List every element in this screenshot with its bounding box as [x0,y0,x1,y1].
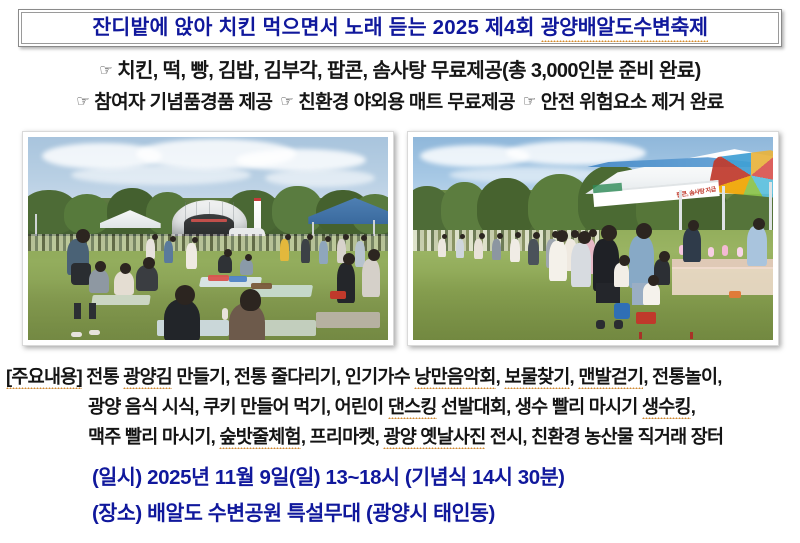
content-text-underlined: 숲밧줄체험 [219,426,300,448]
bullet-safety-text: 안전 위험요소 제거 완료 [541,87,724,118]
poster-page: 잔디밭에 앉아 치킨 먹으면서 노래 듣는 2025 제4회 광양배알도수변축제… [0,0,800,543]
main-content: [주요내용] 전통 광양김 만들기, 전통 줄다리기, 인기가수 낭만음악회, … [0,362,800,452]
photo-row: 팝콘, 솜사탕 지급 [0,131,800,353]
content-text: , 프리마켓, [301,426,384,447]
page-title: 잔디밭에 앉아 치킨 먹으면서 노래 듣는 2025 제4회 광양배알도수변축제 [92,18,707,39]
bullet-line-2: ☞ 참여자 기념품경품 제공 ☞ 친환경 야외용 매트 무료제공 ☞ 안전 위험… [0,87,800,118]
bullet-line-1-text: 치킨, 떡, 빵, 김밥, 김부각, 팝콘, 솜사탕 무료제공(총 3,000인… [117,56,700,87]
title-plain-part: 잔디밭에 앉아 치킨 먹으면서 노래 듣는 2025 제4회 [92,16,540,39]
content-text: , [570,366,579,387]
festival-lawn-photo-image [28,137,388,340]
content-text: 광양 음식 시식, 쿠키 만들어 먹기, 어린이 [88,396,388,417]
bullet-line-1: ☞ 치킨, 떡, 빵, 김밥, 김부각, 팝콘, 솜사탕 무료제공(총 3,00… [0,56,800,87]
bullet-souvenir-text: 참여자 기념품경품 제공 [94,87,272,118]
pointing-hand-icon: ☞ [76,86,89,117]
content-line-1: [주요내용] 전통 광양김 만들기, 전통 줄다리기, 인기가수 낭만음악회, … [0,362,800,392]
title-highlight-part: 광양배알도수변축제 [541,16,708,40]
title-box: 잔디밭에 앉아 치킨 먹으면서 노래 듣는 2025 제4회 광양배알도수변축제 [18,9,782,47]
content-text-underlined: 맨발걷기 [578,366,643,388]
pointing-hand-icon: ☞ [99,55,112,86]
booth-banner-text: 팝콘, 솜사탕 지급 [676,183,720,199]
content-text-underlined: 광양김 [123,366,172,388]
content-text-underlined: 보물찾기 [504,366,569,388]
title-banner: 잔디밭에 앉아 치킨 먹으면서 노래 듣는 2025 제4회 광양배알도수변축제 [18,9,782,47]
food-booth-queue-photo-image: 팝콘, 솜사탕 지급 [413,137,773,340]
content-text: 맥주 빨리 마시기, [88,426,219,447]
event-place-line: (장소) 배알도 수변공원 특설무대 (광양시 태인동) [0,496,800,532]
content-text-underlined: 광양 옛날사진 [383,426,485,448]
content-text: 만들기, 전통 줄다리기, 인기가수 [172,366,414,387]
content-text: 전통 [82,366,123,387]
event-details: (일시) 2025년 11월 9일(일) 13~18시 (기념식 14시 30분… [0,460,800,532]
festival-lawn-photo [22,131,394,346]
food-booth-queue-photo: 팝콘, 솜사탕 지급 [407,131,779,346]
content-text-underlined: 생수킹 [642,396,691,418]
content-text: , [691,396,695,417]
pointing-hand-icon: ☞ [523,86,536,117]
pointing-hand-icon: ☞ [280,86,293,117]
content-line-2: 광양 음식 시식, 쿠키 만들어 먹기, 어린이 댄스킹 선발대회, 생수 빨리… [0,392,800,422]
content-text-underlined: 낭만음악회 [414,366,495,388]
content-text: 선발대회, 생수 빨리 마시기 [437,396,642,417]
content-line-3: 맥주 빨리 마시기, 숲밧줄체험, 프리마켓, 광양 옛날사진 전시, 친환경 … [0,422,800,452]
event-date-line: (일시) 2025년 11월 9일(일) 13~18시 (기념식 14시 30분… [0,460,800,496]
content-text: 전시, 친환경 농산물 직거래 장터 [485,426,723,447]
content-text-underlined: 댄스킹 [388,396,437,418]
content-text: , 전통놀이, [643,366,721,387]
bullet-list: ☞ 치킨, 떡, 빵, 김밥, 김부각, 팝콘, 솜사탕 무료제공(총 3,00… [0,56,800,118]
content-label: [주요내용] [6,366,82,388]
bullet-mat-text: 친환경 야외용 매트 무료제공 [298,87,515,118]
